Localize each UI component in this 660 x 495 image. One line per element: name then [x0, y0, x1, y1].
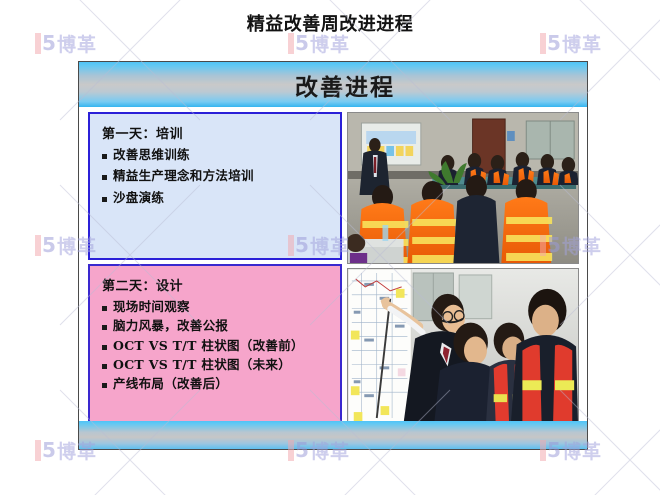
- content-column-right: [347, 112, 579, 416]
- list-item: 精益生产理念和方法培训: [102, 168, 332, 183]
- list-item: 沙盘演练: [102, 190, 332, 205]
- list-item: OCT VS T/T 柱状图（未来）: [102, 357, 332, 372]
- bullet-square-icon: [102, 175, 107, 180]
- page-title: 精益改善周改进进程: [0, 10, 660, 36]
- photo-whiteboard-workshop: [347, 268, 579, 424]
- panel-day-one: 第一天：培训 改善思维训练 精益生产理念和方法培训 沙盘演练: [88, 112, 342, 260]
- list-item-label: 脑力风暴，改善公报: [113, 318, 228, 333]
- list-item-label: 精益生产理念和方法培训: [113, 168, 254, 183]
- panel-day-one-heading: 第一天：培训: [102, 123, 332, 142]
- bogo-logo-icon: 5: [540, 33, 559, 54]
- training-classroom-illustration: [348, 113, 578, 263]
- slide-body: 第一天：培训 改善思维训练 精益生产理念和方法培训 沙盘演练: [79, 107, 587, 421]
- list-item: 脑力风暴，改善公报: [102, 318, 332, 333]
- bullet-square-icon: [102, 306, 107, 311]
- bullet-square-icon: [102, 197, 107, 202]
- list-item-label: 产线布局（改善后）: [113, 376, 228, 391]
- bogo-logo-icon: 5: [288, 33, 307, 54]
- slide-page: 精益改善周改进进程 改善进程 第一天：培训 改善思维训练 精益生产理念和方法培训: [0, 0, 660, 495]
- slide-footer-bar: [79, 421, 587, 449]
- bogo-logo-icon: 5: [35, 235, 54, 256]
- list-item-label: 沙盘演练: [113, 190, 164, 205]
- content-column-left: 第一天：培训 改善思维训练 精益生产理念和方法培训 沙盘演练: [88, 112, 342, 416]
- list-item-label: 改善思维训练: [113, 147, 190, 162]
- slide-banner: 改善进程: [79, 62, 587, 107]
- bullet-square-icon: [102, 345, 107, 350]
- list-item: 现场时间观察: [102, 299, 332, 314]
- list-item-label: OCT VS T/T 柱状图（未来）: [113, 357, 291, 372]
- banner-title: 改善进程: [91, 62, 587, 107]
- photo-training-classroom: [347, 112, 579, 264]
- bullet-square-icon: [102, 154, 107, 159]
- bogo-logo-icon: 5: [35, 33, 54, 54]
- slide-frame: 改善进程 第一天：培训 改善思维训练 精益生产理念和方法培训: [78, 61, 588, 450]
- bullet-square-icon: [102, 383, 107, 388]
- list-item: 产线布局（改善后）: [102, 376, 332, 391]
- whiteboard-workshop-illustration: [348, 269, 578, 423]
- panel-day-two: 第二天：设计 现场时间观察 脑力风暴，改善公报 OCT VS T/T 柱状图（改…: [88, 264, 342, 424]
- list-item: OCT VS T/T 柱状图（改善前）: [102, 338, 332, 353]
- list-item-label: OCT VS T/T 柱状图（改善前）: [113, 338, 304, 353]
- bullet-square-icon: [102, 325, 107, 330]
- list-item-label: 现场时间观察: [113, 299, 190, 314]
- bullet-square-icon: [102, 364, 107, 369]
- list-item: 改善思维训练: [102, 147, 332, 162]
- panel-day-two-heading: 第二天：设计: [102, 275, 332, 294]
- bogo-logo-icon: 5: [35, 440, 54, 461]
